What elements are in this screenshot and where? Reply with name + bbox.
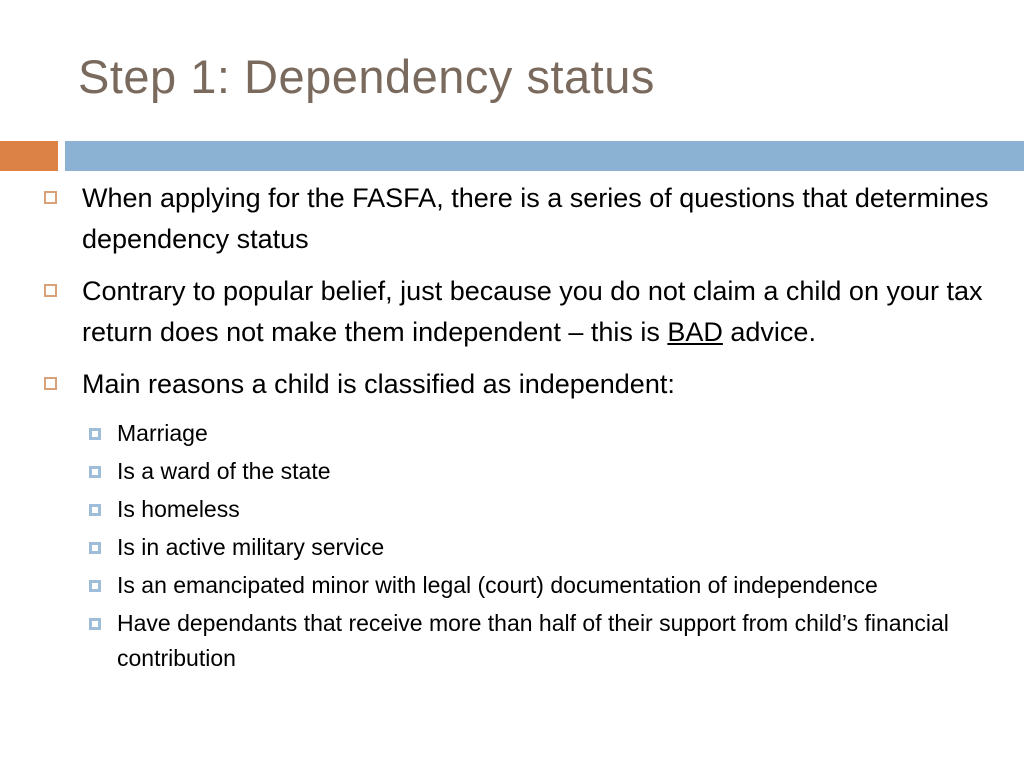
sub-list: Marriage Is a ward of the state Is homel…: [0, 416, 1024, 676]
square-bullet-icon: [44, 284, 57, 297]
small-square-bullet-icon: [89, 618, 101, 630]
sub-list-item: Is in active military service: [0, 530, 1024, 565]
small-square-bullet-icon: [89, 504, 101, 516]
slide: Step 1: Dependency status When applying …: [0, 0, 1024, 768]
list-item-emphasis: BAD: [667, 317, 723, 347]
list-item-text: When applying for the FASFA, there is a …: [82, 183, 988, 254]
sub-list-item-text: Is homeless: [117, 496, 240, 522]
small-square-bullet-icon: [89, 428, 101, 440]
sub-list-item-text: Is an emancipated minor with legal (cour…: [117, 572, 878, 598]
square-bullet-icon: [44, 191, 57, 204]
divider-accent-block: [0, 141, 58, 171]
sub-list-item: Have dependants that receive more than h…: [0, 606, 1024, 676]
sub-list-item-text: Is a ward of the state: [117, 458, 331, 484]
sub-list-item-text: Is in active military service: [117, 534, 384, 560]
list-item-text: Main reasons a child is classified as in…: [82, 369, 675, 399]
list-item: Contrary to popular belief, just because…: [0, 271, 1024, 353]
slide-body: When applying for the FASFA, there is a …: [0, 178, 1024, 679]
sub-list-item: Is an emancipated minor with legal (cour…: [0, 568, 1024, 603]
list-item: Main reasons a child is classified as in…: [0, 364, 1024, 405]
square-bullet-icon: [44, 377, 57, 390]
page-title: Step 1: Dependency status: [78, 48, 978, 106]
divider-bar: [65, 141, 1024, 171]
sub-list-item: Is homeless: [0, 492, 1024, 527]
list-item: When applying for the FASFA, there is a …: [0, 178, 1024, 260]
small-square-bullet-icon: [89, 466, 101, 478]
list-item-text-after: advice.: [723, 317, 816, 347]
list-item-text-before: Contrary to popular belief, just because…: [82, 276, 983, 347]
sub-list-item: Is a ward of the state: [0, 454, 1024, 489]
small-square-bullet-icon: [89, 580, 101, 592]
sub-list-item-text: Have dependants that receive more than h…: [117, 610, 949, 671]
title-divider: [0, 141, 1024, 171]
small-square-bullet-icon: [89, 542, 101, 554]
sub-list-item-text: Marriage: [117, 420, 208, 446]
sub-list-item: Marriage: [0, 416, 1024, 451]
